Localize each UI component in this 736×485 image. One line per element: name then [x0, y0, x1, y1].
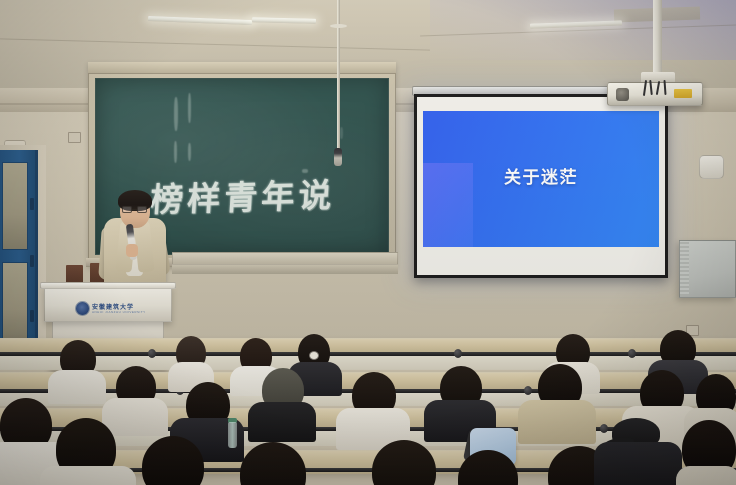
bench-riser [0, 354, 736, 370]
projector-lens-icon [616, 88, 629, 101]
rail-post [600, 424, 608, 433]
door-hinge [30, 310, 34, 322]
eyeglasses-icon [121, 206, 149, 213]
rail-post [628, 349, 636, 358]
projector-cables [640, 80, 674, 96]
front-desk [172, 252, 398, 265]
hanging-microphone-icon [334, 148, 342, 166]
presentation-slide: 关于迷茫 [423, 111, 659, 247]
door-hinge [30, 255, 34, 267]
pole-ceiling-cap [330, 24, 347, 28]
podium-lectern-top [40, 282, 176, 289]
lecture-hall-photo: 榜样青年说 关于迷茫 [0, 0, 736, 485]
projection-screen: 关于迷茫 [414, 94, 668, 278]
rail-post [148, 349, 156, 358]
university-emblem-icon [76, 302, 89, 315]
projector-label [674, 89, 692, 98]
door-hinge [30, 198, 34, 210]
entrance-door[interactable] [0, 150, 38, 345]
rail-post [524, 386, 532, 395]
door-glass-panel [2, 262, 28, 342]
wall-panel-vents [680, 242, 689, 296]
wifi-access-point [699, 155, 724, 179]
screen-surface: 关于迷茫 [417, 97, 665, 275]
bench-rail [0, 352, 736, 356]
university-name-en: ANHUI JIANZHU UNIVERSITY [92, 310, 146, 314]
slide-title: 关于迷茫 [423, 163, 659, 188]
power-outlet [68, 132, 81, 143]
front-desk-apron [172, 265, 398, 274]
blackboard-top-rail [88, 62, 396, 74]
projector-mount-pole [653, 0, 662, 78]
door-glass-panel [2, 162, 28, 250]
rail-post [454, 349, 462, 358]
speaker-hand [126, 244, 138, 257]
water-bottle [228, 422, 237, 448]
